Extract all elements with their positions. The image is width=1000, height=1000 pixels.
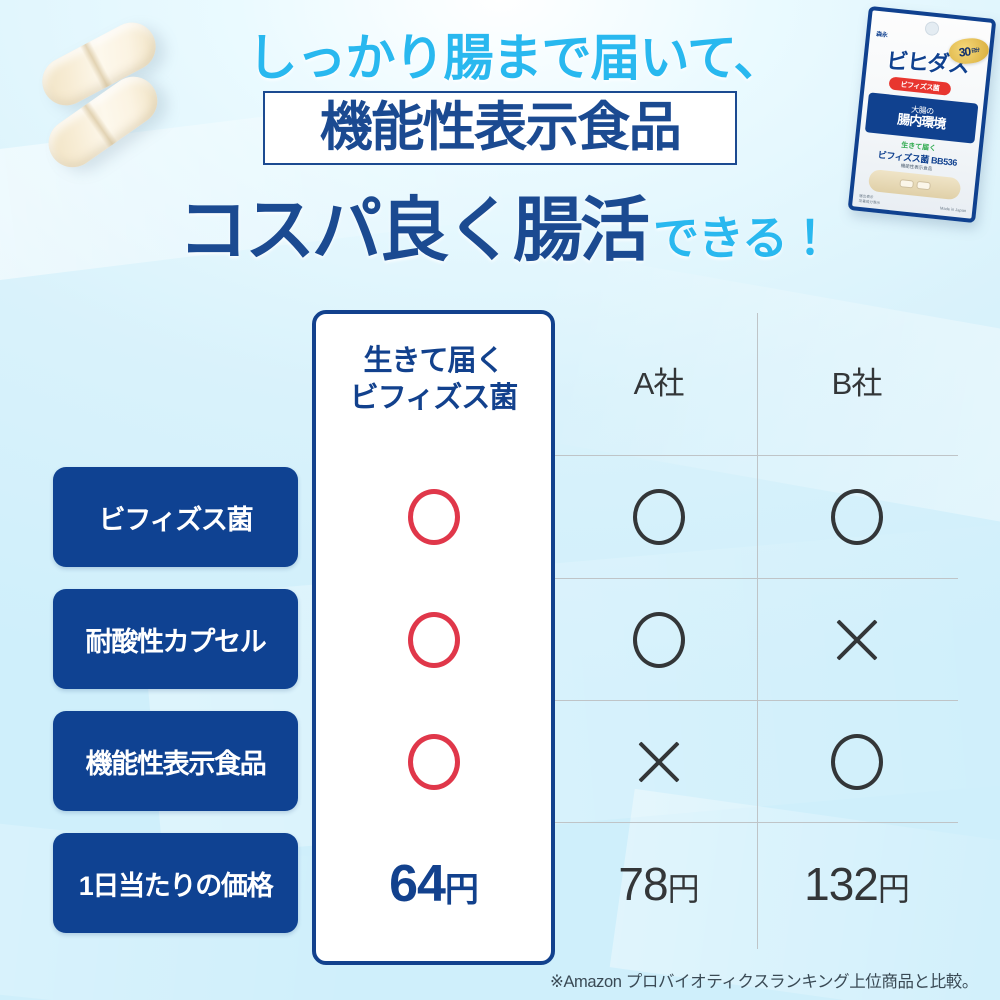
circle-icon <box>633 489 685 545</box>
row-label-foshu-claim: 機能性表示食品 <box>53 711 298 811</box>
cell-b-row2 <box>758 579 955 701</box>
comparison-table: 生きて届く ビフィズス菌 A社 B社 ビフィズス菌 耐酸性カプセル 機能性表示食… <box>0 305 1000 965</box>
column-header-product-line1: 生きて届く <box>363 343 503 380</box>
headline-line-3-suffix: できる！ <box>653 212 832 264</box>
cell-product-row2 <box>312 579 555 701</box>
circle-icon <box>831 489 883 545</box>
headline-line-3: コスパ良く腸活できる！ <box>0 174 1000 275</box>
headline-block: しっかり腸まで届いて、 機能性表示食品 コスパ良く腸活できる！ <box>0 32 1000 275</box>
column-header-product-line2: ビフィズス菌 <box>350 380 517 417</box>
cross-icon <box>834 617 880 663</box>
cell-b-row4: 132円 <box>758 823 955 945</box>
cell-a-row2 <box>560 579 757 701</box>
headline-boxed-claim: 機能性表示食品 <box>263 91 737 165</box>
cell-product-row4: 64円 <box>312 823 555 945</box>
cross-icon <box>636 739 682 785</box>
price-product-value: 64 <box>389 855 445 913</box>
price-b-unit: 円 <box>878 871 909 907</box>
cell-a-row3 <box>560 701 757 823</box>
row-label-daily-price: 1日当たりの価格 <box>53 833 298 933</box>
cell-b-row1 <box>758 456 955 578</box>
headline-boxed-claim-text: 機能性表示食品 <box>320 101 681 154</box>
footnote: ※Amazon プロバイオティクスランキング上位商品と比較。 <box>0 968 978 992</box>
column-header-b-label: B社 <box>832 358 882 403</box>
price-product: 64円 <box>389 854 478 914</box>
cell-a-row4: 78円 <box>560 823 757 945</box>
price-a-value: 78 <box>618 858 667 910</box>
price-a-unit: 円 <box>668 871 699 907</box>
price-product-unit: 円 <box>445 871 478 909</box>
headline-line-3-main: コスパ良く腸活 <box>178 191 647 269</box>
cell-b-row3 <box>758 701 955 823</box>
circle-icon <box>633 612 685 668</box>
circle-red-icon <box>408 734 460 790</box>
row-label-acid-resistant-capsule: 耐酸性カプセル <box>53 589 298 689</box>
promo-banner: 森永 ビヒダス ビフィズス菌 大腸の 腸内環境 生きて届く ビフィズス菌 BB5… <box>0 0 1000 1000</box>
circle-icon <box>831 734 883 790</box>
row-label-probiotic: ビフィズス菌 <box>53 467 298 567</box>
cell-product-row3 <box>312 701 555 823</box>
price-a: 78円 <box>618 857 698 911</box>
column-header-b: B社 <box>758 305 955 455</box>
cell-a-row1 <box>560 456 757 578</box>
price-b: 132円 <box>804 857 909 911</box>
headline-line-1: しっかり腸まで届いて、 <box>0 32 1000 85</box>
price-b-value: 132 <box>804 858 878 910</box>
circle-red-icon <box>408 612 460 668</box>
circle-red-icon <box>408 489 460 545</box>
cell-product-row1 <box>312 456 555 578</box>
column-header-a-label: A社 <box>634 358 684 403</box>
column-header-product: 生きて届く ビフィズス菌 <box>312 305 555 455</box>
column-header-a: A社 <box>560 305 757 455</box>
